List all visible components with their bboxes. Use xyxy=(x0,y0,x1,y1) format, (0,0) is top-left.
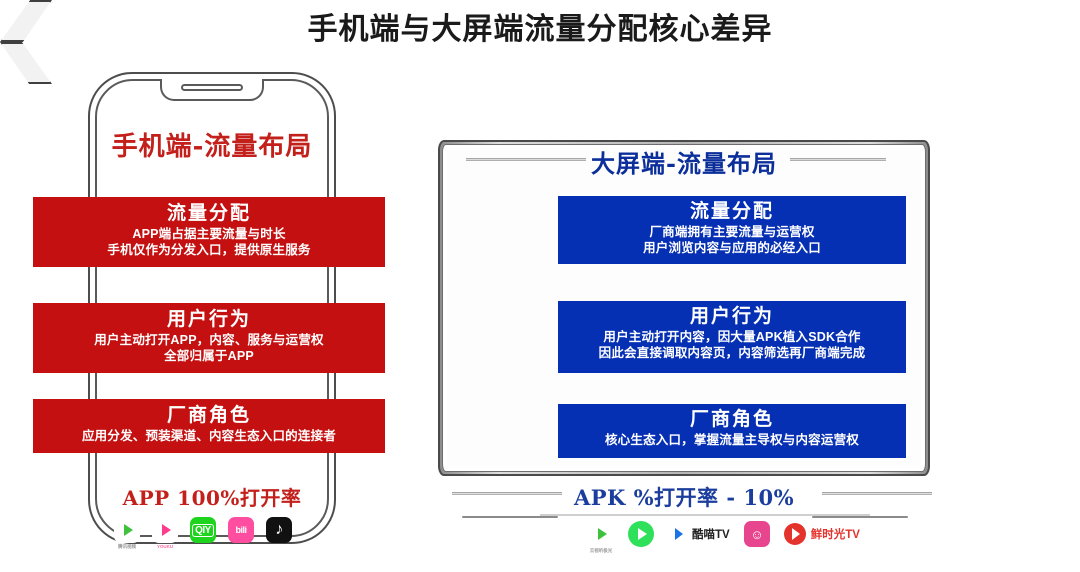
tv-app-icon-row: 云视听极光 酷喵TV ☺ 鲜时光TV xyxy=(588,521,860,547)
xianshiguang-tv-icon-label: 鲜时光TV xyxy=(811,526,860,542)
iqiyi-icon[interactable]: QIY xyxy=(190,517,216,543)
tv-block-1-title: 流量分配 xyxy=(558,200,906,224)
tencent-video-tv-icon-label: 云视听极光 xyxy=(588,548,614,554)
iqiyi-icon-label: QIY xyxy=(192,524,214,537)
dangbei-icon[interactable]: ☺ xyxy=(744,521,770,547)
phone-block-1-line-1: APP端占据主要流量与时长 xyxy=(33,226,385,242)
tv-block-3: 厂商角色 核心生态入口，掌握流量主导权与内容运营权 xyxy=(558,404,906,458)
tv-block-2-title: 用户行为 xyxy=(558,305,906,329)
phone-speaker-icon xyxy=(181,84,243,91)
tv-block-3-line-1: 核心生态入口，掌握流量主导权与内容运营权 xyxy=(558,432,906,448)
tv-panel-heading: 大屏端-流量布局 xyxy=(438,144,930,179)
page-title: 手机端与大屏端流量分配核心差异 xyxy=(0,4,1080,48)
tv-open-rate-label: APK %打开率 - 10% xyxy=(438,482,930,512)
phone-block-2-title: 用户行为 xyxy=(33,308,385,332)
tv-block-2: 用户行为 用户主动打开内容，因大量APK植入SDK合作 因此会直接调取内容页，内… xyxy=(558,301,906,373)
tv-block-1: 流量分配 厂商端拥有主要流量与运营权 用户浏览内容与应用的必经入口 xyxy=(558,196,906,264)
douyin-icon-label: ♪ xyxy=(275,521,283,539)
tv-block-2-line-2: 因此会直接调取内容页，内容筛选再厂商端完成 xyxy=(558,345,906,361)
tv-block-1-line-2: 用户浏览内容与应用的必经入口 xyxy=(558,240,906,256)
phone-block-3-line-1: 应用分发、预装渠道、内容生态入口的连接者 xyxy=(33,428,385,444)
phone-block-1: 流量分配 APP端占据主要流量与时长 手机仅作为分发入口，提供原生服务 xyxy=(33,197,385,267)
kumiao-tv-icon[interactable]: 酷喵TV xyxy=(668,524,730,544)
phone-app-icon-row: 腾讯视频 YOUKU QIY bili ♪ xyxy=(114,517,292,543)
tv-block-3-title: 厂商角色 xyxy=(558,408,906,432)
youku-icon[interactable]: YOUKU xyxy=(152,517,178,543)
tv-foot-left xyxy=(462,516,558,518)
tencent-video-tv-icon[interactable]: 云视听极光 xyxy=(588,521,614,547)
phone-panel-heading: 手机端-流量布局 xyxy=(0,126,424,163)
douyin-icon[interactable]: ♪ xyxy=(266,517,292,543)
tv-rate-underline xyxy=(540,514,870,516)
xianshiguang-tv-icon[interactable]: 鲜时光TV xyxy=(784,523,860,545)
phone-block-3-title: 厂商角色 xyxy=(33,404,385,428)
youku-icon-label: YOUKU xyxy=(152,544,178,549)
kumiao-tv-icon-label: 酷喵TV xyxy=(692,526,730,542)
phone-open-rate-label: APP 100%打开率 xyxy=(88,482,336,511)
phone-block-1-title: 流量分配 xyxy=(33,202,385,226)
phone-block-2: 用户行为 用户主动打开APP，内容、服务与运营权 全部归属于APP xyxy=(33,303,385,373)
phone-block-2-line-1: 用户主动打开APP，内容、服务与运营权 xyxy=(33,332,385,348)
tv-block-2-line-1: 用户主动打开内容，因大量APK植入SDK合作 xyxy=(558,329,906,345)
bilibili-icon-label: bili xyxy=(236,525,247,535)
phone-block-2-line-2: 全部归属于APP xyxy=(33,348,385,364)
tv-leg-right xyxy=(0,42,52,84)
phone-block-3: 厂商角色 应用分发、预装渠道、内容生态入口的连接者 xyxy=(33,399,385,453)
tencent-video-icon-label: 腾讯视频 xyxy=(114,544,140,550)
mango-tv-icon[interactable] xyxy=(628,521,654,547)
slide-canvas: 手机端与大屏端流量分配核心差异 手机端-流量布局 流量分配 APP端占据主要流量… xyxy=(0,0,1080,572)
tv-block-1-line-1: 厂商端拥有主要流量与运营权 xyxy=(558,224,906,240)
phone-block-1-line-2: 手机仅作为分发入口，提供原生服务 xyxy=(33,242,385,258)
bilibili-icon[interactable]: bili xyxy=(228,517,254,543)
tencent-video-icon[interactable]: 腾讯视频 xyxy=(114,517,140,543)
tv-foot-right xyxy=(812,516,908,518)
